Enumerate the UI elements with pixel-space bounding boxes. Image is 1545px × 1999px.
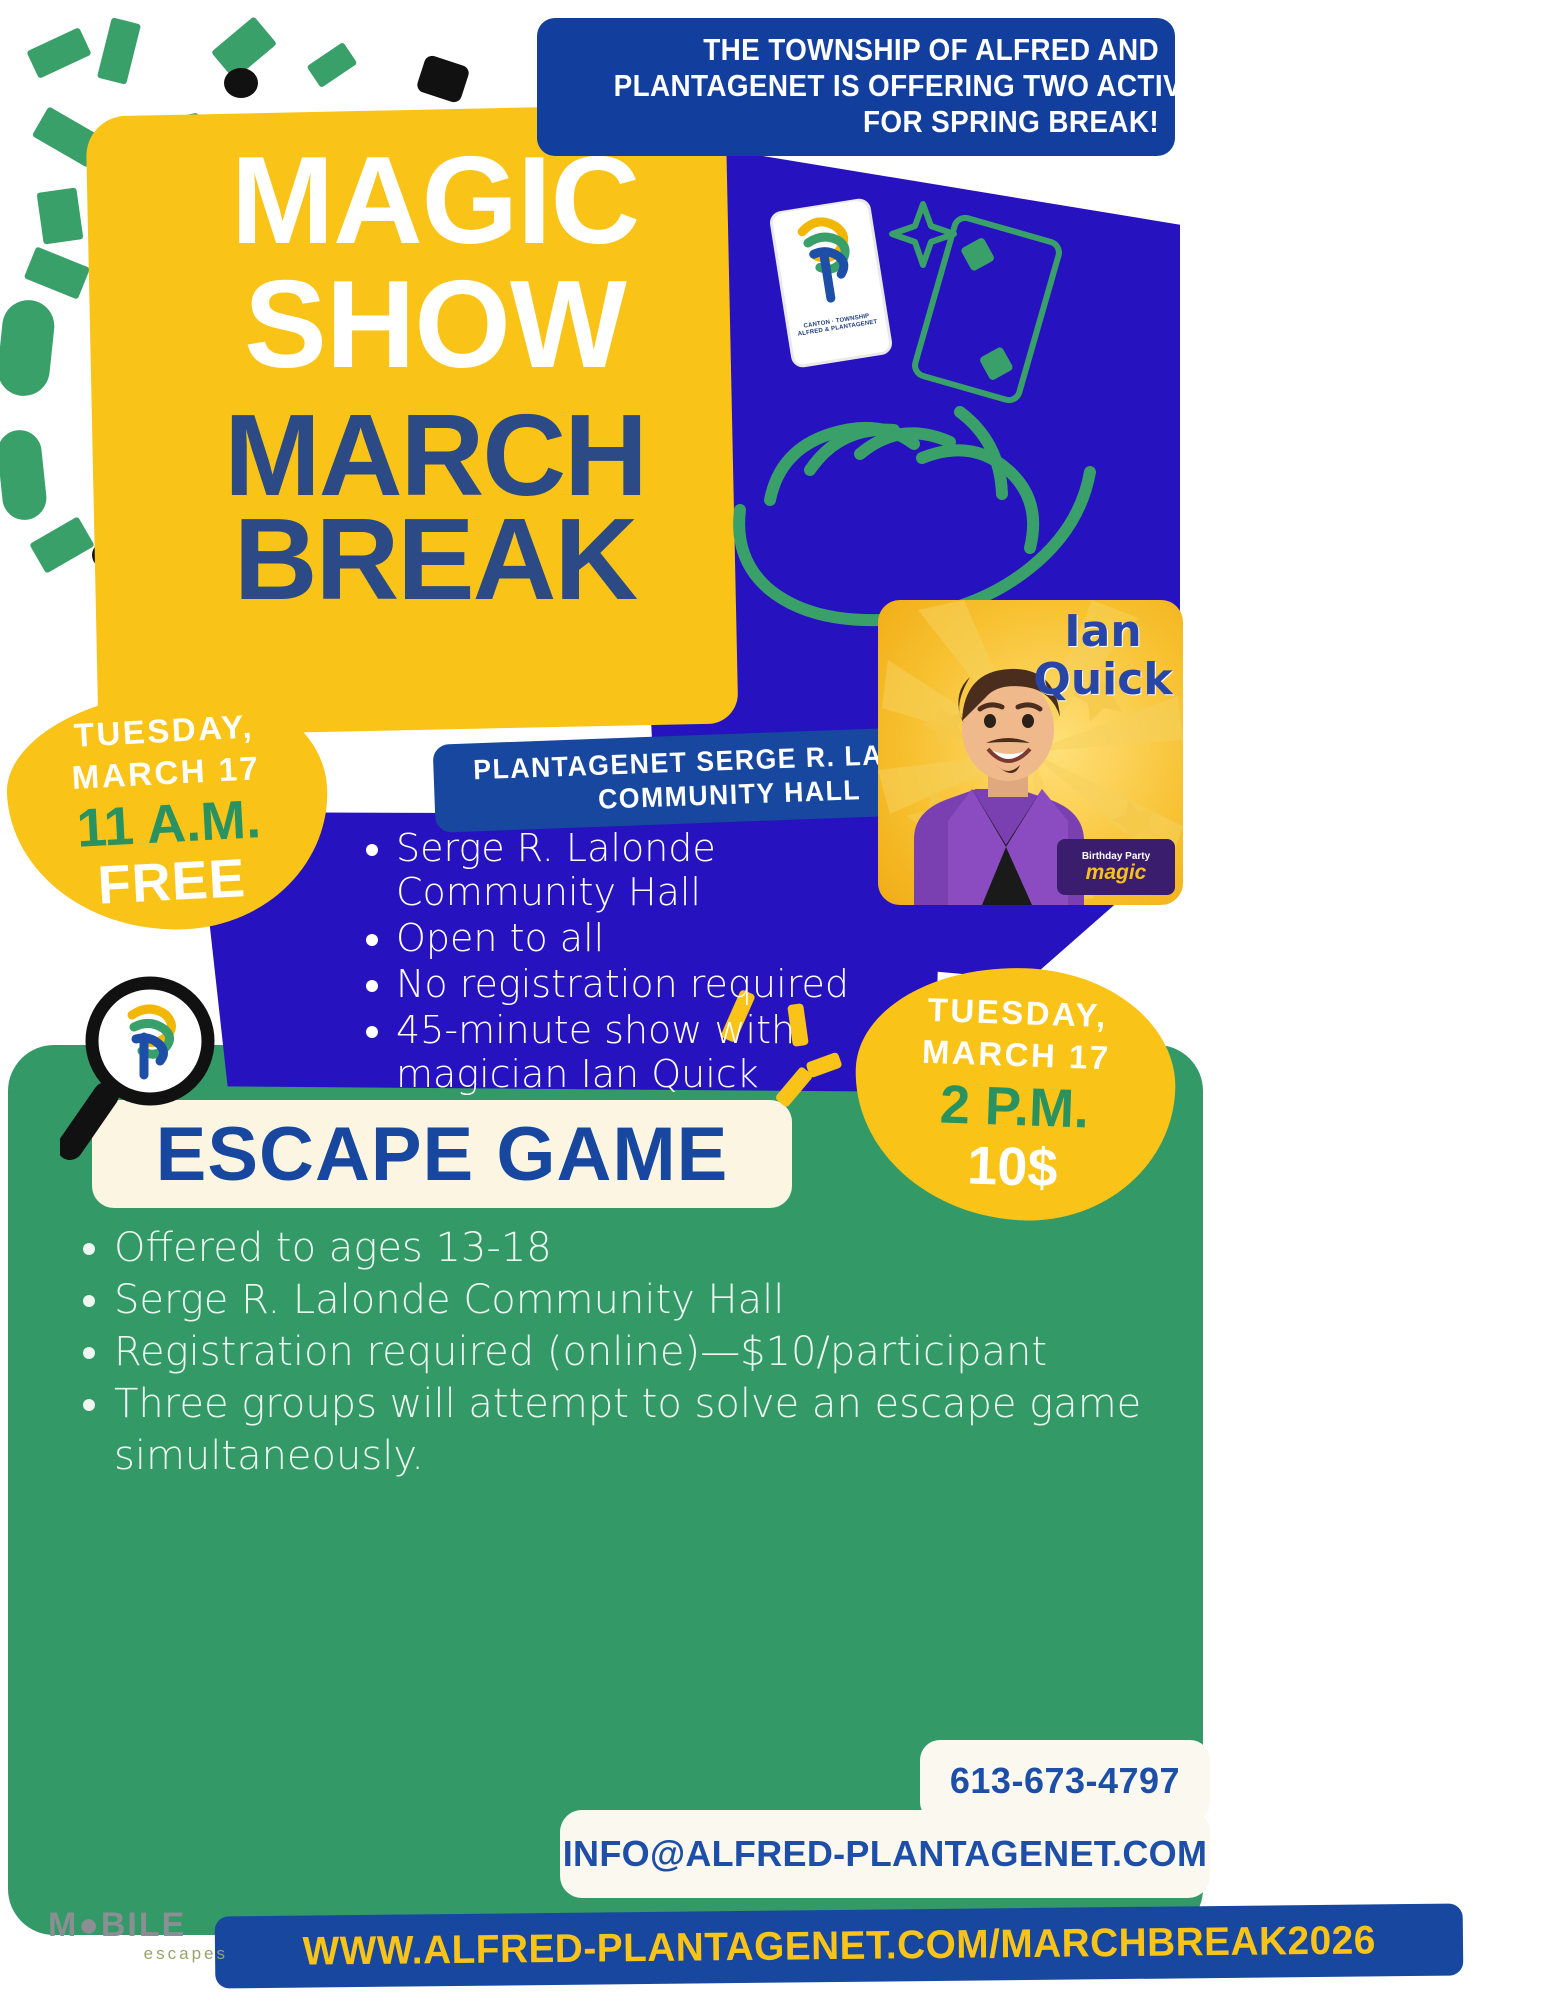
header-line-3: FOR SPRING BREAK! — [614, 104, 1159, 140]
email-pill[interactable]: INFO@ALFRED-PLANTAGENET.COM — [560, 1810, 1210, 1898]
performer-last-name: Quick — [1033, 656, 1173, 704]
website-url: WWW.ALFRED-PLANTAGENET.COM/MARCHBREAK202… — [302, 1918, 1376, 1974]
main-title-block: MAGIC SHOW MARCH BREAK — [130, 120, 740, 610]
diamond-pip-bottom — [979, 346, 1014, 381]
email-address: INFO@ALFRED-PLANTAGENET.COM — [563, 1833, 1208, 1875]
poster-canvas: THE TOWNSHIP OF ALFRED AND PLANTAGENET I… — [0, 0, 1545, 1999]
escape-badge-time: 2 P.M. — [939, 1073, 1090, 1140]
list-item: Registration required (online)—$10/parti… — [114, 1326, 1154, 1378]
header-banner: THE TOWNSHIP OF ALFRED AND PLANTAGENET I… — [537, 18, 1175, 156]
list-item: No registration required — [396, 962, 916, 1006]
birthday-party-magic-logo: Birthday Party magic — [1057, 839, 1175, 895]
phone-number: 613-673-4797 — [950, 1760, 1180, 1802]
title-show: SHOW — [130, 266, 740, 384]
title-break: BREAK — [130, 508, 740, 610]
municipality-logo-icon — [773, 200, 881, 321]
mobile-escapes-wordmark: M●BILE — [48, 1908, 228, 1942]
list-item: Serge R. Lalonde Community Hall — [114, 1274, 1154, 1326]
confetti-piece — [0, 428, 49, 522]
list-item: 45-minute show with magician Ian Quick — [396, 1008, 916, 1096]
performer-first-name: Ian — [1033, 608, 1173, 656]
magic-date-badge-text: TUESDAY, MARCH 17 11 A.M. FREE — [2, 682, 334, 938]
list-item: Serge R. Lalonde Community Hall — [396, 826, 916, 914]
confetti-piece — [224, 68, 258, 98]
magic-bullet-list: Serge R. Lalonde Community Hall Open to … — [362, 826, 916, 1098]
performer-name: Ian Quick — [1033, 608, 1173, 704]
list-item: Open to all — [396, 916, 916, 960]
confetti-piece — [26, 27, 91, 79]
title-magic: MAGIC — [130, 142, 740, 260]
magic-badge-price: FREE — [96, 850, 247, 914]
bpm-line-2: magic — [1086, 862, 1147, 883]
confetti-piece — [29, 516, 94, 573]
confetti-piece — [415, 54, 470, 104]
diamond-pip-top — [960, 237, 995, 272]
sparkle-star-icon — [888, 200, 958, 270]
confetti-piece — [97, 17, 141, 84]
magnifier-icon — [60, 975, 230, 1160]
mobile-escapes-subtitle: escapes — [48, 1944, 228, 1964]
escape-badge-price: 10$ — [966, 1136, 1058, 1197]
website-url-bar[interactable]: WWW.ALFRED-PLANTAGENET.COM/MARCHBREAK202… — [215, 1903, 1464, 1988]
escape-badge-date: MARCH 17 — [921, 1031, 1111, 1080]
title-march: MARCH — [130, 404, 740, 506]
list-item: Three groups will attempt to solve an es… — [114, 1378, 1154, 1482]
header-line-2: PLANTAGENET IS OFFERING TWO ACTIVITIES — [614, 68, 1159, 104]
escape-bullet-list: Offered to ages 13-18 Serge R. Lalonde C… — [74, 1222, 1154, 1482]
mobile-escapes-logo: M●BILE escapes — [48, 1908, 228, 1992]
confetti-piece — [0, 298, 57, 399]
confetti-piece — [37, 187, 84, 244]
list-item: Offered to ages 13-18 — [114, 1222, 1154, 1274]
confetti-piece — [306, 42, 357, 88]
header-line-1: THE TOWNSHIP OF ALFRED AND — [614, 32, 1159, 68]
performer-photo-card: Ian Quick — [878, 600, 1183, 905]
confetti-piece — [24, 246, 91, 299]
escape-badge-day: TUESDAY, — [927, 989, 1109, 1037]
